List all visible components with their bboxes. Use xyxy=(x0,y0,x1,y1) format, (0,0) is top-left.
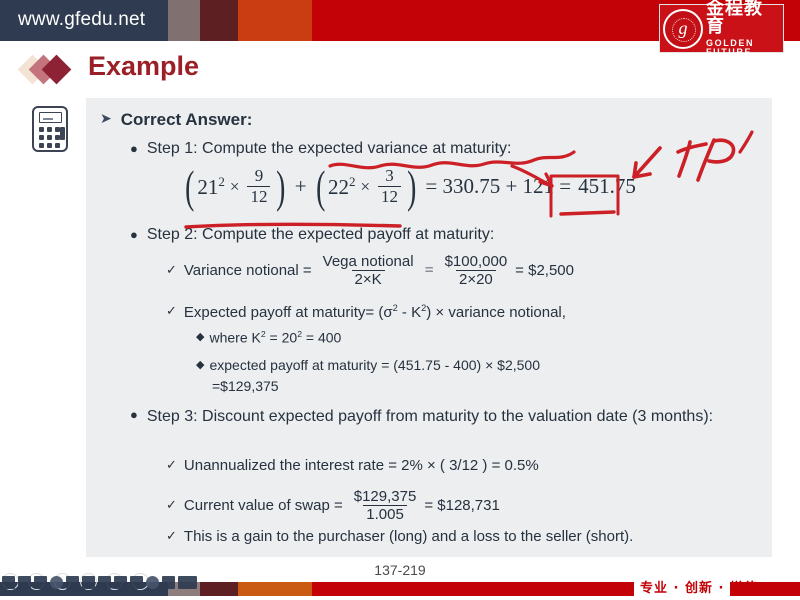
gain-note-row: ✓ This is a gain to the purchaser (long)… xyxy=(166,528,633,545)
dot-bullet-icon: ● xyxy=(130,406,138,424)
header-band-gray xyxy=(168,0,200,41)
step1-equation-tail: = 330.75 + 121 = xyxy=(425,174,571,199)
diamond-bullet-icon: ◆ xyxy=(196,329,204,346)
step1-result: 451.75 xyxy=(578,174,636,199)
fraction-vega-over-2k: Vega notional 2×K xyxy=(320,253,417,288)
dot-bullet-icon: ● xyxy=(130,140,138,158)
step1-text: Step 1: Compute the expected variance at… xyxy=(147,140,512,158)
title-row: Example xyxy=(0,48,800,92)
player-control-bar[interactable] xyxy=(0,571,186,593)
fraction-100000-over-40: $100,000 2×20 xyxy=(442,253,511,288)
variance-notional-formula: ✓ Variance notional = Vega notional 2×K … xyxy=(166,253,574,288)
step2-row: ● Step 2: Compute the expected payoff at… xyxy=(130,226,494,244)
correct-answer-row: ➤ Correct Answer: xyxy=(100,110,252,130)
settings-icon[interactable] xyxy=(130,576,143,589)
header-band-orange xyxy=(238,0,312,41)
times-1: × xyxy=(230,177,240,197)
close-paren-2: ) xyxy=(407,169,416,205)
where-k-text: where K2 = 202 = 400 xyxy=(209,329,341,346)
unannualized-row: ✓ Unannualized the interest rate = 2% × … xyxy=(166,457,539,474)
unannualized-text: Unannualized the interest rate = 2% × ( … xyxy=(184,457,539,474)
check-bullet-icon: ✓ xyxy=(166,497,177,514)
check-bullet-icon: ✓ xyxy=(166,303,177,320)
header-band-maroon xyxy=(200,0,238,41)
calculator-icon xyxy=(32,106,68,152)
dot-bullet-icon: ● xyxy=(130,226,138,244)
correct-answer-label: Correct Answer: xyxy=(121,110,253,130)
plus-sign: + xyxy=(295,174,307,199)
logo-chinese-name: 金程教育 xyxy=(706,0,779,36)
volume-icon[interactable] xyxy=(98,576,111,589)
fraction-9-12: 9 12 xyxy=(247,166,270,207)
forward-icon[interactable] xyxy=(66,576,79,589)
step3-text: Step 3: Discount expected payoff from ma… xyxy=(147,406,713,428)
fraction-129375-over-1005: $129,375 1.005 xyxy=(351,488,420,523)
variance-notional-label: Variance notional = xyxy=(184,262,312,279)
step1-formula: ( 212 × 9 12 ) + ( 222 × 3 12 ) = 330.75… xyxy=(182,166,636,207)
play-icon[interactable] xyxy=(50,576,63,589)
step1-row: ● Step 1: Compute the expected variance … xyxy=(130,140,512,158)
open-paren-1: ( xyxy=(185,169,194,205)
close-paren-1: ) xyxy=(277,169,286,205)
check-bullet-icon: ✓ xyxy=(166,528,177,545)
check-bullet-icon: ✓ xyxy=(166,457,177,474)
step2-text: Step 2: Compute the expected payoff at m… xyxy=(147,226,494,244)
expected-payoff-definition: Expected payoff at maturity= (σ2 - K2) ×… xyxy=(184,303,566,321)
footer-slogan: 专业 · 创新 · 增值 xyxy=(640,577,758,596)
variance-notional-result: = $2,500 xyxy=(515,262,574,279)
payoff-result-text: =$129,375 xyxy=(212,378,279,394)
diamond-decoration-icon xyxy=(22,55,78,85)
timeline-icon[interactable] xyxy=(114,576,127,589)
page-title: Example xyxy=(88,51,199,82)
fraction-3-12: 3 12 xyxy=(378,166,401,207)
gain-note-text: This is a gain to the purchaser (long) a… xyxy=(184,528,633,545)
site-url-label: www.gfedu.net xyxy=(18,9,145,31)
brand-logo: g 金程教育 GOLDEN FUTURE xyxy=(659,4,784,53)
previous-icon[interactable] xyxy=(2,576,15,589)
slide-page: www.gfedu.net g 金程教育 GOLDEN FUTURE Examp… xyxy=(0,0,800,600)
list-icon[interactable] xyxy=(162,576,175,589)
content-panel: ➤ Correct Answer: ● Step 1: Compute the … xyxy=(86,98,772,557)
formula-a-base: 212 xyxy=(197,174,225,200)
more-options-icon[interactable] xyxy=(178,576,197,589)
logo-monogram: g xyxy=(665,19,701,37)
diamond-bullet-icon: ◆ xyxy=(196,357,204,374)
payoff-calc-text: expected payoff at maturity = (451.75 - … xyxy=(209,357,540,373)
check-bullet-icon: ✓ xyxy=(166,262,177,279)
rewind-icon[interactable] xyxy=(18,576,31,589)
current-value-result: = $128,731 xyxy=(424,497,500,514)
current-value-label: Current value of swap = xyxy=(184,497,343,514)
where-k-row: ◆ where K2 = 202 = 400 xyxy=(196,329,341,346)
open-paren-2: ( xyxy=(316,169,325,205)
formula-b-base: 222 xyxy=(328,174,356,200)
logo-seal-icon: g xyxy=(663,9,703,49)
next-icon[interactable] xyxy=(82,576,95,589)
stop-icon[interactable] xyxy=(34,576,47,589)
arrow-bullet-icon: ➤ xyxy=(100,110,112,127)
expected-payoff-row: ✓ Expected payoff at maturity= (σ2 - K2)… xyxy=(166,303,566,321)
payoff-calc-row: ◆ expected payoff at maturity = (451.75 … xyxy=(196,357,540,374)
fullscreen-icon[interactable] xyxy=(146,576,159,589)
step3-row: ● Step 3: Discount expected payoff from … xyxy=(130,406,750,428)
equals-sign-vn: = xyxy=(425,262,434,280)
current-value-formula: ✓ Current value of swap = $129,375 1.005… xyxy=(166,488,500,523)
times-2: × xyxy=(360,177,370,197)
